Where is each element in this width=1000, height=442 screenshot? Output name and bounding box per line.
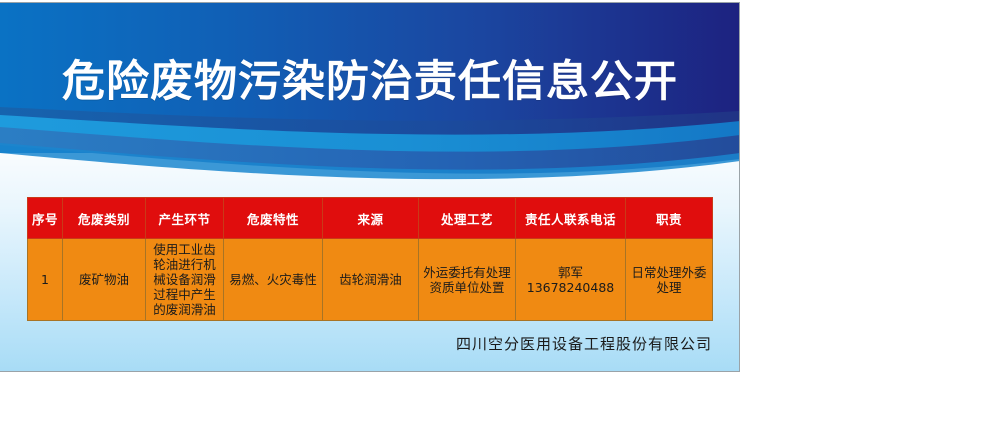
cell-source: 齿轮润滑油 (323, 239, 419, 321)
table-row: 1 废矿物油 使用工业齿轮油进行机械设备润滑过程中产生的废润滑油 易燃、火灾毒性… (28, 239, 713, 321)
cell-process: 外运委托有处理资质单位处置 (419, 239, 516, 321)
table-header-row: 序号 危废类别 产生环节 危废特性 来源 处理工艺 责任人联系电话 职责 (28, 198, 713, 239)
cell-index: 1 (28, 239, 63, 321)
column-header-contact: 责任人联系电话 (516, 198, 626, 239)
information-disclosure-poster: 危险废物污染防治责任信息公开 序号 危废类别 产生环节 危废特性 来源 处理工艺… (0, 2, 740, 372)
company-name: 四川空分医用设备工程股份有限公司 (0, 333, 712, 354)
column-header-stage: 产生环节 (146, 198, 224, 239)
column-header-duty: 职责 (626, 198, 713, 239)
hazardous-waste-table-wrapper: 序号 危废类别 产生环节 危废特性 来源 处理工艺 责任人联系电话 职责 1 废… (27, 197, 712, 321)
cell-property: 易燃、火灾毒性 (224, 239, 323, 321)
cell-contact: 郭军 13678240488 (516, 239, 626, 321)
hazardous-waste-table: 序号 危废类别 产生环节 危废特性 来源 处理工艺 责任人联系电话 职责 1 废… (27, 197, 713, 321)
cell-duty: 日常处理外委处理 (626, 239, 713, 321)
column-header-index: 序号 (28, 198, 63, 239)
column-header-source: 来源 (323, 198, 419, 239)
page-title: 危险废物污染防治责任信息公开 (0, 55, 740, 109)
column-header-process: 处理工艺 (419, 198, 516, 239)
cell-category: 废矿物油 (63, 239, 146, 321)
column-header-property: 危废特性 (224, 198, 323, 239)
column-header-category: 危废类别 (63, 198, 146, 239)
cell-stage: 使用工业齿轮油进行机械设备润滑过程中产生的废润滑油 (146, 239, 224, 321)
screenshot-root: 危险废物污染防治责任信息公开 序号 危废类别 产生环节 危废特性 来源 处理工艺… (0, 0, 1000, 442)
